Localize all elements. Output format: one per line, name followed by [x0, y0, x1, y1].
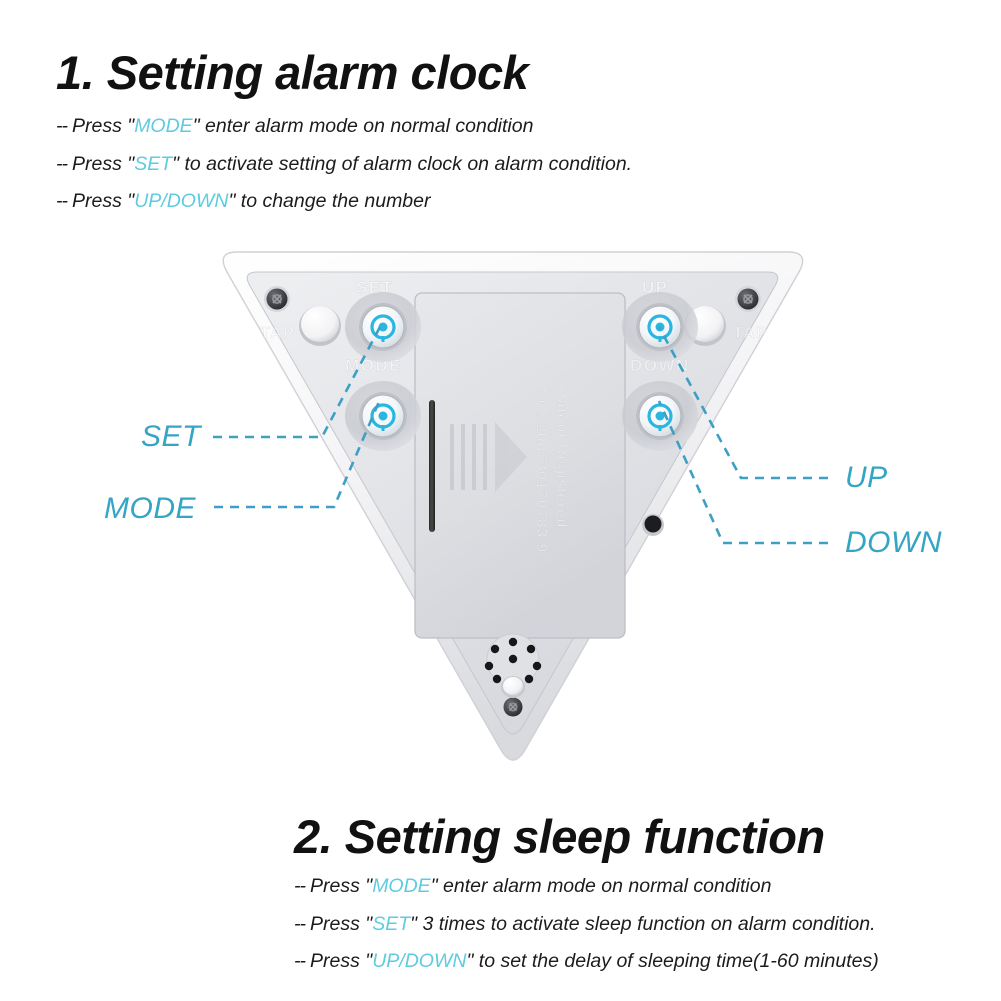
svg-text:TAP: TAP	[733, 325, 768, 342]
callout-up: UP	[845, 461, 888, 495]
section-1-line-2: --Press "SET" to activate setting of ala…	[56, 155, 632, 175]
down-button[interactable]	[622, 381, 698, 451]
section-2-line-2: --Press "SET" 3 times to activate sleep …	[294, 915, 879, 935]
screw-top-right	[735, 286, 761, 312]
sensor-hole	[642, 514, 664, 536]
keyword-mode: MODE	[134, 115, 193, 137]
bullet-dash: --	[294, 913, 305, 935]
embossed-label-tap-right: TAP	[733, 325, 768, 342]
line-post: " enter alarm mode on normal condition	[193, 115, 534, 137]
line-pre: Press "	[310, 875, 372, 897]
screw-bottom	[501, 695, 525, 719]
device-illustration: Patent Registered NO. 200730170783.9 SET…	[205, 238, 820, 778]
line-pre: Press "	[310, 950, 372, 972]
patent-text-line2: NO. 200730170783.9	[533, 388, 550, 553]
up-button[interactable]	[622, 292, 698, 362]
bullet-dash: --	[294, 875, 305, 897]
section-setting-alarm-clock: 1. Setting alarm clock --Press "MODE" en…	[56, 48, 632, 230]
section-2-line-3: --Press "UP/DOWN" to set the delay of sl…	[294, 952, 879, 972]
set-button[interactable]	[345, 292, 421, 362]
bullet-dash: --	[56, 190, 67, 212]
keyword-set: SET	[134, 153, 172, 175]
section-2-line-1: --Press "MODE" enter alarm mode on norma…	[294, 877, 879, 897]
section-setting-sleep-function: 2. Setting sleep function --Press "MODE"…	[294, 812, 879, 990]
embossed-label-tap-left: TAP	[260, 325, 295, 342]
section-1-line-1: --Press "MODE" enter alarm mode on norma…	[56, 117, 632, 137]
line-pre: Press "	[72, 190, 134, 212]
line-post: " to change the number	[228, 190, 430, 212]
keyword-up-down: UP/DOWN	[372, 950, 466, 972]
rubber-foot-left	[299, 306, 341, 346]
instruction-sheet: 1. Setting alarm clock --Press "MODE" en…	[0, 0, 1001, 1001]
bullet-dash: --	[294, 950, 305, 972]
section-1-heading: 1. Setting alarm clock	[56, 48, 632, 97]
svg-text:TAP: TAP	[260, 325, 295, 342]
line-pre: Press "	[310, 913, 372, 935]
line-pre: Press "	[72, 115, 134, 137]
bullet-dash: --	[56, 115, 67, 137]
keyword-mode: MODE	[372, 875, 431, 897]
section-2-heading: 2. Setting sleep function	[294, 812, 879, 861]
battery-door[interactable]	[415, 293, 625, 638]
callout-set: SET	[141, 420, 201, 454]
bullet-dash: --	[56, 153, 67, 175]
keyword-set: SET	[372, 913, 410, 935]
section-1-line-3: --Press "UP/DOWN" to change the number	[56, 192, 632, 212]
reset-bump[interactable]	[501, 676, 525, 698]
line-pre: Press "	[72, 153, 134, 175]
line-post: " to set the delay of sleeping time(1-60…	[466, 950, 878, 972]
battery-door-slot	[429, 400, 435, 532]
line-post: " enter alarm mode on normal condition	[431, 875, 772, 897]
callout-down: DOWN	[845, 526, 942, 560]
line-post: " 3 times to activate sleep function on …	[410, 913, 875, 935]
callout-mode: MODE	[104, 492, 196, 526]
screw-top-left	[264, 286, 290, 312]
patent-text-line1: Patent Registered	[553, 388, 570, 528]
mode-button[interactable]	[345, 381, 421, 451]
keyword-up-down: UP/DOWN	[134, 190, 228, 212]
line-post: " to activate setting of alarm clock on …	[172, 153, 632, 175]
